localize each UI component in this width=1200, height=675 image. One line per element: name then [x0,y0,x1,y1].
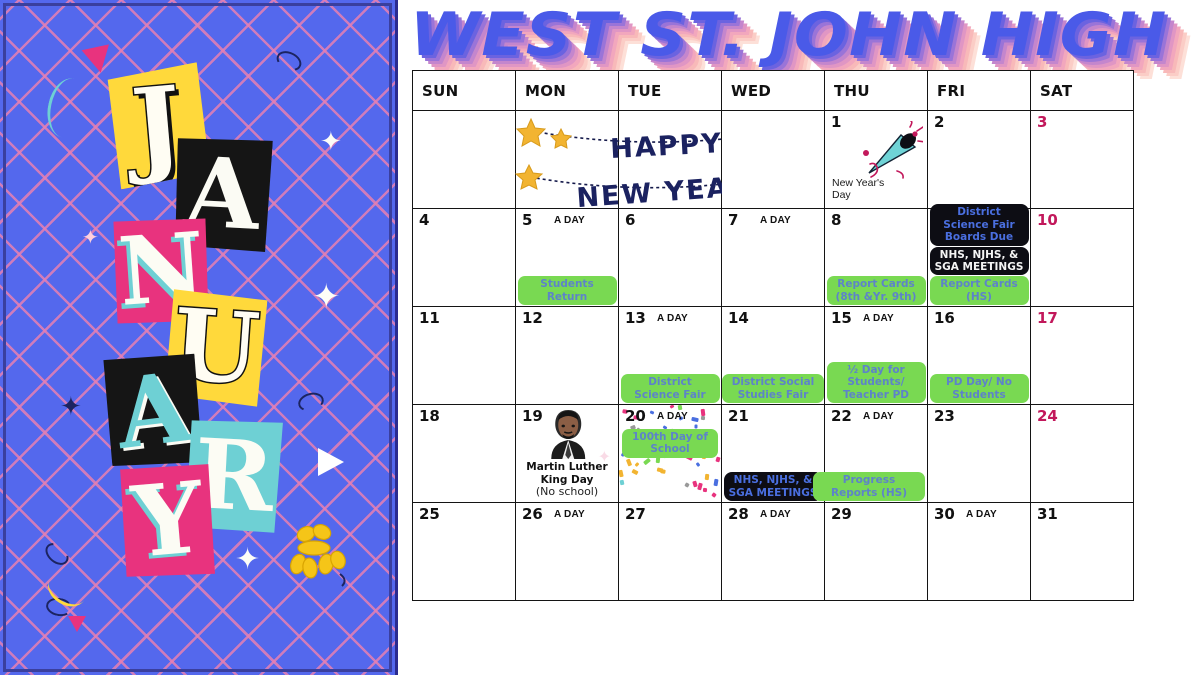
sparkle-icon: ✦ [320,128,342,154]
letter-glyph: J [129,81,185,170]
day-number: 1 [831,115,841,130]
calendar-day-cell-empty[interactable] [413,111,516,209]
calendar-day-cell-13[interactable]: 13A DAYDistrict Science Fair [619,307,722,405]
calendar-day-cell-26[interactable]: 26A DAY [516,503,619,601]
letter-glyph: Y [130,478,207,564]
calendar-day-cell-6[interactable]: 6 [619,209,722,307]
calendar-week-row: HAPPY NEW YEAR 1 ✦ New Year'sDay23 [413,111,1134,209]
event-list: NHS, NJHS, & SGA MEETINGS [722,472,824,501]
page-title: WEST ST. JOHN HIGH [410,0,1200,70]
calendar-day-cell-3[interactable]: 3 [1031,111,1134,209]
day-number: 13 [625,311,646,326]
a-day-label: A DAY [863,313,894,324]
calendar-day-cell-18[interactable]: 18 [413,405,516,503]
event-chip[interactable]: District Science Fair Boards Due [930,204,1029,245]
day-number: 8 [831,213,841,228]
sparkle-icon: ✦ [82,228,99,248]
holiday-label: Martin LutherKing Day(No school) [518,461,616,499]
weekday-header-fri: FRI [928,71,1031,111]
calendar-day-cell-30[interactable]: 30A DAY [928,503,1031,601]
calendar-day-cell-21[interactable]: 21NHS, NJHS, & SGA MEETINGS [722,405,825,503]
calendar-day-cell-24[interactable]: 24 [1031,405,1134,503]
day-number: 31 [1037,507,1058,522]
event-chip[interactable]: Report Cards (HS) [930,276,1029,305]
poster-letter-y: Y [115,458,221,584]
calendar-day-cell-22[interactable]: 22A DAYProgress Reports (HS) [825,405,928,503]
weekday-header-tue: TUE [619,71,722,111]
calendar-day-cell-11[interactable]: 11 [413,307,516,405]
event-chip[interactable]: NHS, NJHS, & SGA MEETINGS [724,472,823,501]
calendar-day-cell-9[interactable]: 9A DAYDistrict Science Fair Boards DueNH… [928,209,1031,307]
day-number: 12 [522,311,543,326]
calendar-day-cell-31[interactable]: 31 [1031,503,1134,601]
event-chip[interactable]: District Social Studies Fair [722,374,824,403]
day-number: 26 [522,507,543,522]
calendar-day-cell-1[interactable]: 1 ✦ New Year'sDay [825,111,928,209]
calendar-day-cell-8[interactable]: 8Report Cards (8th &Yr. 9th) [825,209,928,307]
event-chip[interactable]: Students Return [518,276,617,305]
sparkle-icon: ✦ [60,393,82,419]
day-number: 17 [1037,311,1058,326]
event-chip[interactable]: ½ Day for Students/ Teacher PD [827,362,926,403]
day-number: 6 [625,213,635,228]
a-day-label: A DAY [657,411,688,422]
event-list: District Social Studies Fair [722,374,824,403]
event-chip[interactable]: Report Cards (8th &Yr. 9th) [827,276,926,305]
calendar-day-cell-empty[interactable] [516,111,619,209]
svg-text:HAPPY: HAPPY [610,128,724,165]
day-number: 16 [934,311,955,326]
calendar-grid: SUN MON TUE WED THU FRI SAT HAPPY NEW YE… [412,70,1134,601]
day-number: 4 [419,213,429,228]
event-list: ½ Day for Students/ Teacher PD [825,362,927,403]
weekday-header-sat: SAT [1031,71,1134,111]
letter-glyph: A [112,367,196,454]
event-chip[interactable]: Progress Reports (HS) [813,472,925,501]
calendar-day-cell-23[interactable]: 23 [928,405,1031,503]
january-poster: J A N U A R Y ✦ ✦ ✦ ✦ ✦ [0,0,398,675]
day-number: 28 [728,507,749,522]
calendar-page: J A N U A R Y ✦ ✦ ✦ ✦ ✦ [0,0,1200,675]
event-list: District Science Fair [619,374,721,403]
calendar-day-cell-12[interactable]: 12 [516,307,619,405]
a-day-label: A DAY [966,509,997,520]
day-number: 21 [728,409,749,424]
calendar-day-cell-7[interactable]: 7A DAY [722,209,825,307]
a-day-label: A DAY [760,509,791,520]
day-number: 10 [1037,213,1058,228]
calendar-day-cell-28[interactable]: 28A DAY [722,503,825,601]
calendar-day-cell-4[interactable]: 4 [413,209,516,307]
calendar-week-row: 2526A DAY2728A DAY2930A DAY31 [413,503,1134,601]
event-list: Progress Reports (HS) [825,472,927,501]
calendar-day-cell-10[interactable]: 10 [1031,209,1134,307]
calendar-body: HAPPY NEW YEAR 1 ✦ New Year'sDay2345A DA… [413,111,1134,601]
day-number: 2 [934,115,944,130]
calendar-week-row: 1819 ✦Martin LutherKing Day(No school)20… [413,405,1134,503]
day-number: 5 [522,213,532,228]
calendar-week-row: 111213A DAYDistrict Science Fair14Distri… [413,307,1134,405]
event-chip[interactable]: PD Day/ No Students [930,374,1029,403]
day-number: 18 [419,409,440,424]
event-list: District Science Fair Boards DueNHS, NJH… [928,204,1030,305]
a-day-label: A DAY [863,411,894,422]
calendar-day-cell-empty[interactable]: HAPPY NEW YEAR [619,111,722,209]
svg-text:✦: ✦ [877,134,888,149]
calendar-day-cell-5[interactable]: 5A DAYStudents Return [516,209,619,307]
calendar-day-cell-27[interactable]: 27 [619,503,722,601]
day-number: 11 [419,311,440,326]
white-triangle-icon [318,448,344,476]
weekday-header-row: SUN MON TUE WED THU FRI SAT [413,71,1134,111]
day-number: 29 [831,507,852,522]
day-number: 25 [419,507,440,522]
a-day-label: A DAY [554,215,585,226]
day-number: 22 [831,409,852,424]
sparkle-icon: ✦ [235,545,260,575]
day-number: 23 [934,409,955,424]
event-list: Report Cards (8th &Yr. 9th) [825,276,927,305]
weekday-header-sun: SUN [413,71,516,111]
day-number: 20 [625,409,646,424]
calendar-day-cell-19[interactable]: 19 ✦Martin LutherKing Day(No school) [516,405,619,503]
calendar-area: WEST ST. JOHN HIGH SUN MON TUE WED THU F… [398,0,1200,675]
martin-luther-king-portrait-icon [537,407,599,459]
a-day-label: A DAY [760,215,791,226]
calendar-day-cell-29[interactable]: 29 [825,503,928,601]
event-chip[interactable]: NHS, NJHS, & SGA MEETINGS [930,247,1029,276]
day-number: 7 [728,213,738,228]
day-number: 30 [934,507,955,522]
calendar-day-cell-2[interactable]: 2 [928,111,1031,209]
calendar-day-cell-15[interactable]: 15A DAY½ Day for Students/ Teacher PD [825,307,928,405]
event-list: 100th Day of School [622,429,718,458]
weekday-header-wed: WED [722,71,825,111]
day-number: 3 [1037,115,1047,130]
calendar-day-cell-16[interactable]: 16PD Day/ No Students [928,307,1031,405]
small-pink-triangle-icon [68,616,86,632]
weekday-header-mon: MON [516,71,619,111]
day-number: 15 [831,311,852,326]
event-list: Students Return [516,276,618,305]
holiday-label: New Year'sDay [832,177,884,202]
a-day-label: A DAY [657,313,688,324]
holiday-sublabel: (No school) [536,485,598,498]
calendar-week-row: 45A DAYStudents Return67A DAY8Report Car… [413,209,1134,307]
calendar-day-cell-25[interactable]: 25 [413,503,516,601]
calendar-day-cell-14[interactable]: 14District Social Studies Fair [722,307,825,405]
calendar-day-cell-17[interactable]: 17 [1031,307,1134,405]
sparkle-icon: ✦ [312,280,341,314]
event-chip[interactable]: District Science Fair [621,374,720,403]
party-popper-icon: ✦ [861,121,923,179]
balloon-dog-icon [282,518,354,590]
event-list: PD Day/ No Students [928,374,1030,403]
weekday-header-thu: THU [825,71,928,111]
day-number: 24 [1037,409,1058,424]
day-number: 14 [728,311,749,326]
day-number: 27 [625,507,646,522]
a-day-label: A DAY [554,509,585,520]
calendar-day-cell-empty[interactable] [722,111,825,209]
calendar-day-cell-20[interactable]: 20A DAY100th Day of School [619,405,722,503]
event-chip[interactable]: 100th Day of School [622,429,718,458]
